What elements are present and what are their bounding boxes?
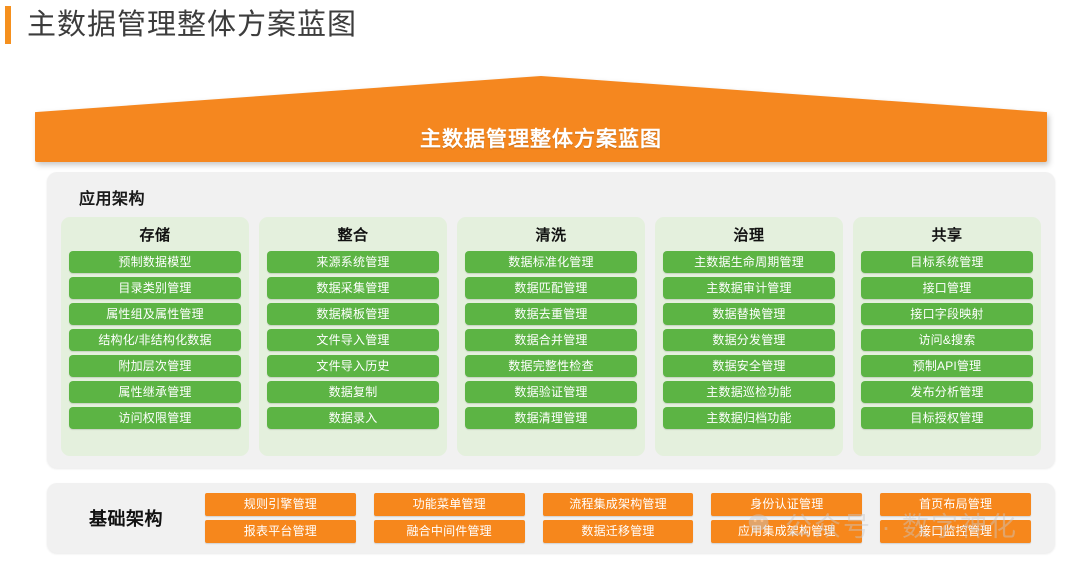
architecture-chip[interactable]: 目标系统管理	[861, 251, 1033, 273]
roof-banner: 主数据管理整体方案蓝图	[35, 76, 1047, 162]
architecture-chip[interactable]: 数据替换管理	[663, 303, 835, 325]
infrastructure-chip[interactable]: 首页布局管理	[880, 493, 1031, 516]
architecture-column-title: 存储	[69, 224, 241, 245]
architecture-chip-list: 预制数据模型目录类别管理属性组及属性管理结构化/非结构化数据附加层次管理属性继承…	[69, 251, 241, 448]
infrastructure-chip[interactable]: 应用集成架构管理	[711, 520, 862, 543]
architecture-chip[interactable]: 主数据归档功能	[663, 407, 835, 429]
infrastructure-chip[interactable]: 流程集成架构管理	[543, 493, 694, 516]
architecture-column: 存储预制数据模型目录类别管理属性组及属性管理结构化/非结构化数据附加层次管理属性…	[61, 217, 249, 456]
infrastructure-chip[interactable]: 报表平台管理	[205, 520, 356, 543]
architecture-chip[interactable]: 数据录入	[267, 407, 439, 429]
architecture-chip[interactable]: 数据匹配管理	[465, 277, 637, 299]
architecture-chip[interactable]: 目标授权管理	[861, 407, 1033, 429]
architecture-chip-list: 主数据生命周期管理主数据审计管理数据替换管理数据分发管理数据安全管理主数据巡检功…	[663, 251, 835, 448]
architecture-chip[interactable]: 预制API管理	[861, 355, 1033, 377]
architecture-chip[interactable]: 数据去重管理	[465, 303, 637, 325]
infrastructure-chip[interactable]: 接口监控管理	[880, 520, 1031, 543]
architecture-chip[interactable]: 主数据巡检功能	[663, 381, 835, 403]
architecture-column: 清洗数据标准化管理数据匹配管理数据去重管理数据合并管理数据完整性检查数据验证管理…	[457, 217, 645, 456]
architecture-chip[interactable]: 数据清理管理	[465, 407, 637, 429]
architecture-chip[interactable]: 来源系统管理	[267, 251, 439, 273]
infrastructure-column: 流程集成架构管理数据迁移管理	[543, 493, 694, 543]
infrastructure-column: 身份认证管理应用集成架构管理	[711, 493, 862, 543]
architecture-chip[interactable]: 发布分析管理	[861, 381, 1033, 403]
title-accent-bar	[5, 6, 11, 44]
architecture-chip[interactable]: 访问权限管理	[69, 407, 241, 429]
infrastructure-chip[interactable]: 功能菜单管理	[374, 493, 525, 516]
infrastructure-chip[interactable]: 规则引擎管理	[205, 493, 356, 516]
architecture-chip[interactable]: 文件导入历史	[267, 355, 439, 377]
architecture-chip-list: 目标系统管理接口管理接口字段映射访问&搜索预制API管理发布分析管理目标授权管理	[861, 251, 1033, 448]
infrastructure-column: 功能菜单管理融合中间件管理	[374, 493, 525, 543]
architecture-column: 共享目标系统管理接口管理接口字段映射访问&搜索预制API管理发布分析管理目标授权…	[853, 217, 1041, 456]
architecture-chip[interactable]: 主数据审计管理	[663, 277, 835, 299]
page-title: 主数据管理整体方案蓝图	[27, 11, 357, 40]
architecture-chip[interactable]: 文件导入管理	[267, 329, 439, 351]
architecture-chip[interactable]: 数据模板管理	[267, 303, 439, 325]
infrastructure-chip[interactable]: 数据迁移管理	[543, 520, 694, 543]
architecture-chip[interactable]: 结构化/非结构化数据	[69, 329, 241, 351]
infrastructure-panel: 基础架构 规则引擎管理报表平台管理功能菜单管理融合中间件管理流程集成架构管理数据…	[47, 483, 1055, 553]
architecture-chip[interactable]: 数据分发管理	[663, 329, 835, 351]
architecture-column-title: 共享	[861, 224, 1033, 245]
architecture-column: 整合来源系统管理数据采集管理数据模板管理文件导入管理文件导入历史数据复制数据录入	[259, 217, 447, 456]
slide-canvas: 主数据管理整体方案蓝图 主数据管理整体方案蓝图 应用架构 存储预制数据模型目录类…	[0, 0, 1080, 575]
architecture-chip-list: 来源系统管理数据采集管理数据模板管理文件导入管理文件导入历史数据复制数据录入	[267, 251, 439, 448]
architecture-chip[interactable]: 属性组及属性管理	[69, 303, 241, 325]
architecture-column-title: 整合	[267, 224, 439, 245]
architecture-chip[interactable]: 数据完整性检查	[465, 355, 637, 377]
infrastructure-title: 基础架构	[47, 505, 205, 531]
architecture-chip[interactable]: 数据验证管理	[465, 381, 637, 403]
architecture-chip[interactable]: 目录类别管理	[69, 277, 241, 299]
architecture-column: 治理主数据生命周期管理主数据审计管理数据替换管理数据分发管理数据安全管理主数据巡…	[655, 217, 843, 456]
architecture-chip[interactable]: 访问&搜索	[861, 329, 1033, 351]
roof-banner-label: 主数据管理整体方案蓝图	[35, 123, 1047, 153]
architecture-chip[interactable]: 预制数据模型	[69, 251, 241, 273]
architecture-chip[interactable]: 数据采集管理	[267, 277, 439, 299]
page-title-row: 主数据管理整体方案蓝图	[0, 4, 357, 46]
architecture-chip[interactable]: 数据安全管理	[663, 355, 835, 377]
architecture-column-title: 治理	[663, 224, 835, 245]
architecture-chip[interactable]: 数据复制	[267, 381, 439, 403]
infrastructure-chip[interactable]: 身份认证管理	[711, 493, 862, 516]
application-architecture-columns: 存储预制数据模型目录类别管理属性组及属性管理结构化/非结构化数据附加层次管理属性…	[61, 217, 1041, 456]
architecture-chip[interactable]: 接口管理	[861, 277, 1033, 299]
infrastructure-column: 规则引擎管理报表平台管理	[205, 493, 356, 543]
infrastructure-column: 首页布局管理接口监控管理	[880, 493, 1031, 543]
architecture-chip[interactable]: 主数据生命周期管理	[663, 251, 835, 273]
infrastructure-chip[interactable]: 融合中间件管理	[374, 520, 525, 543]
architecture-chip[interactable]: 附加层次管理	[69, 355, 241, 377]
application-architecture-title: 应用架构	[79, 185, 145, 209]
application-architecture-panel: 应用架构 存储预制数据模型目录类别管理属性组及属性管理结构化/非结构化数据附加层…	[47, 172, 1055, 468]
architecture-chip[interactable]: 属性继承管理	[69, 381, 241, 403]
architecture-chip-list: 数据标准化管理数据匹配管理数据去重管理数据合并管理数据完整性检查数据验证管理数据…	[465, 251, 637, 448]
architecture-column-title: 清洗	[465, 224, 637, 245]
infrastructure-columns: 规则引擎管理报表平台管理功能菜单管理融合中间件管理流程集成架构管理数据迁移管理身…	[205, 493, 1055, 543]
architecture-chip[interactable]: 接口字段映射	[861, 303, 1033, 325]
architecture-chip[interactable]: 数据合并管理	[465, 329, 637, 351]
architecture-chip[interactable]: 数据标准化管理	[465, 251, 637, 273]
